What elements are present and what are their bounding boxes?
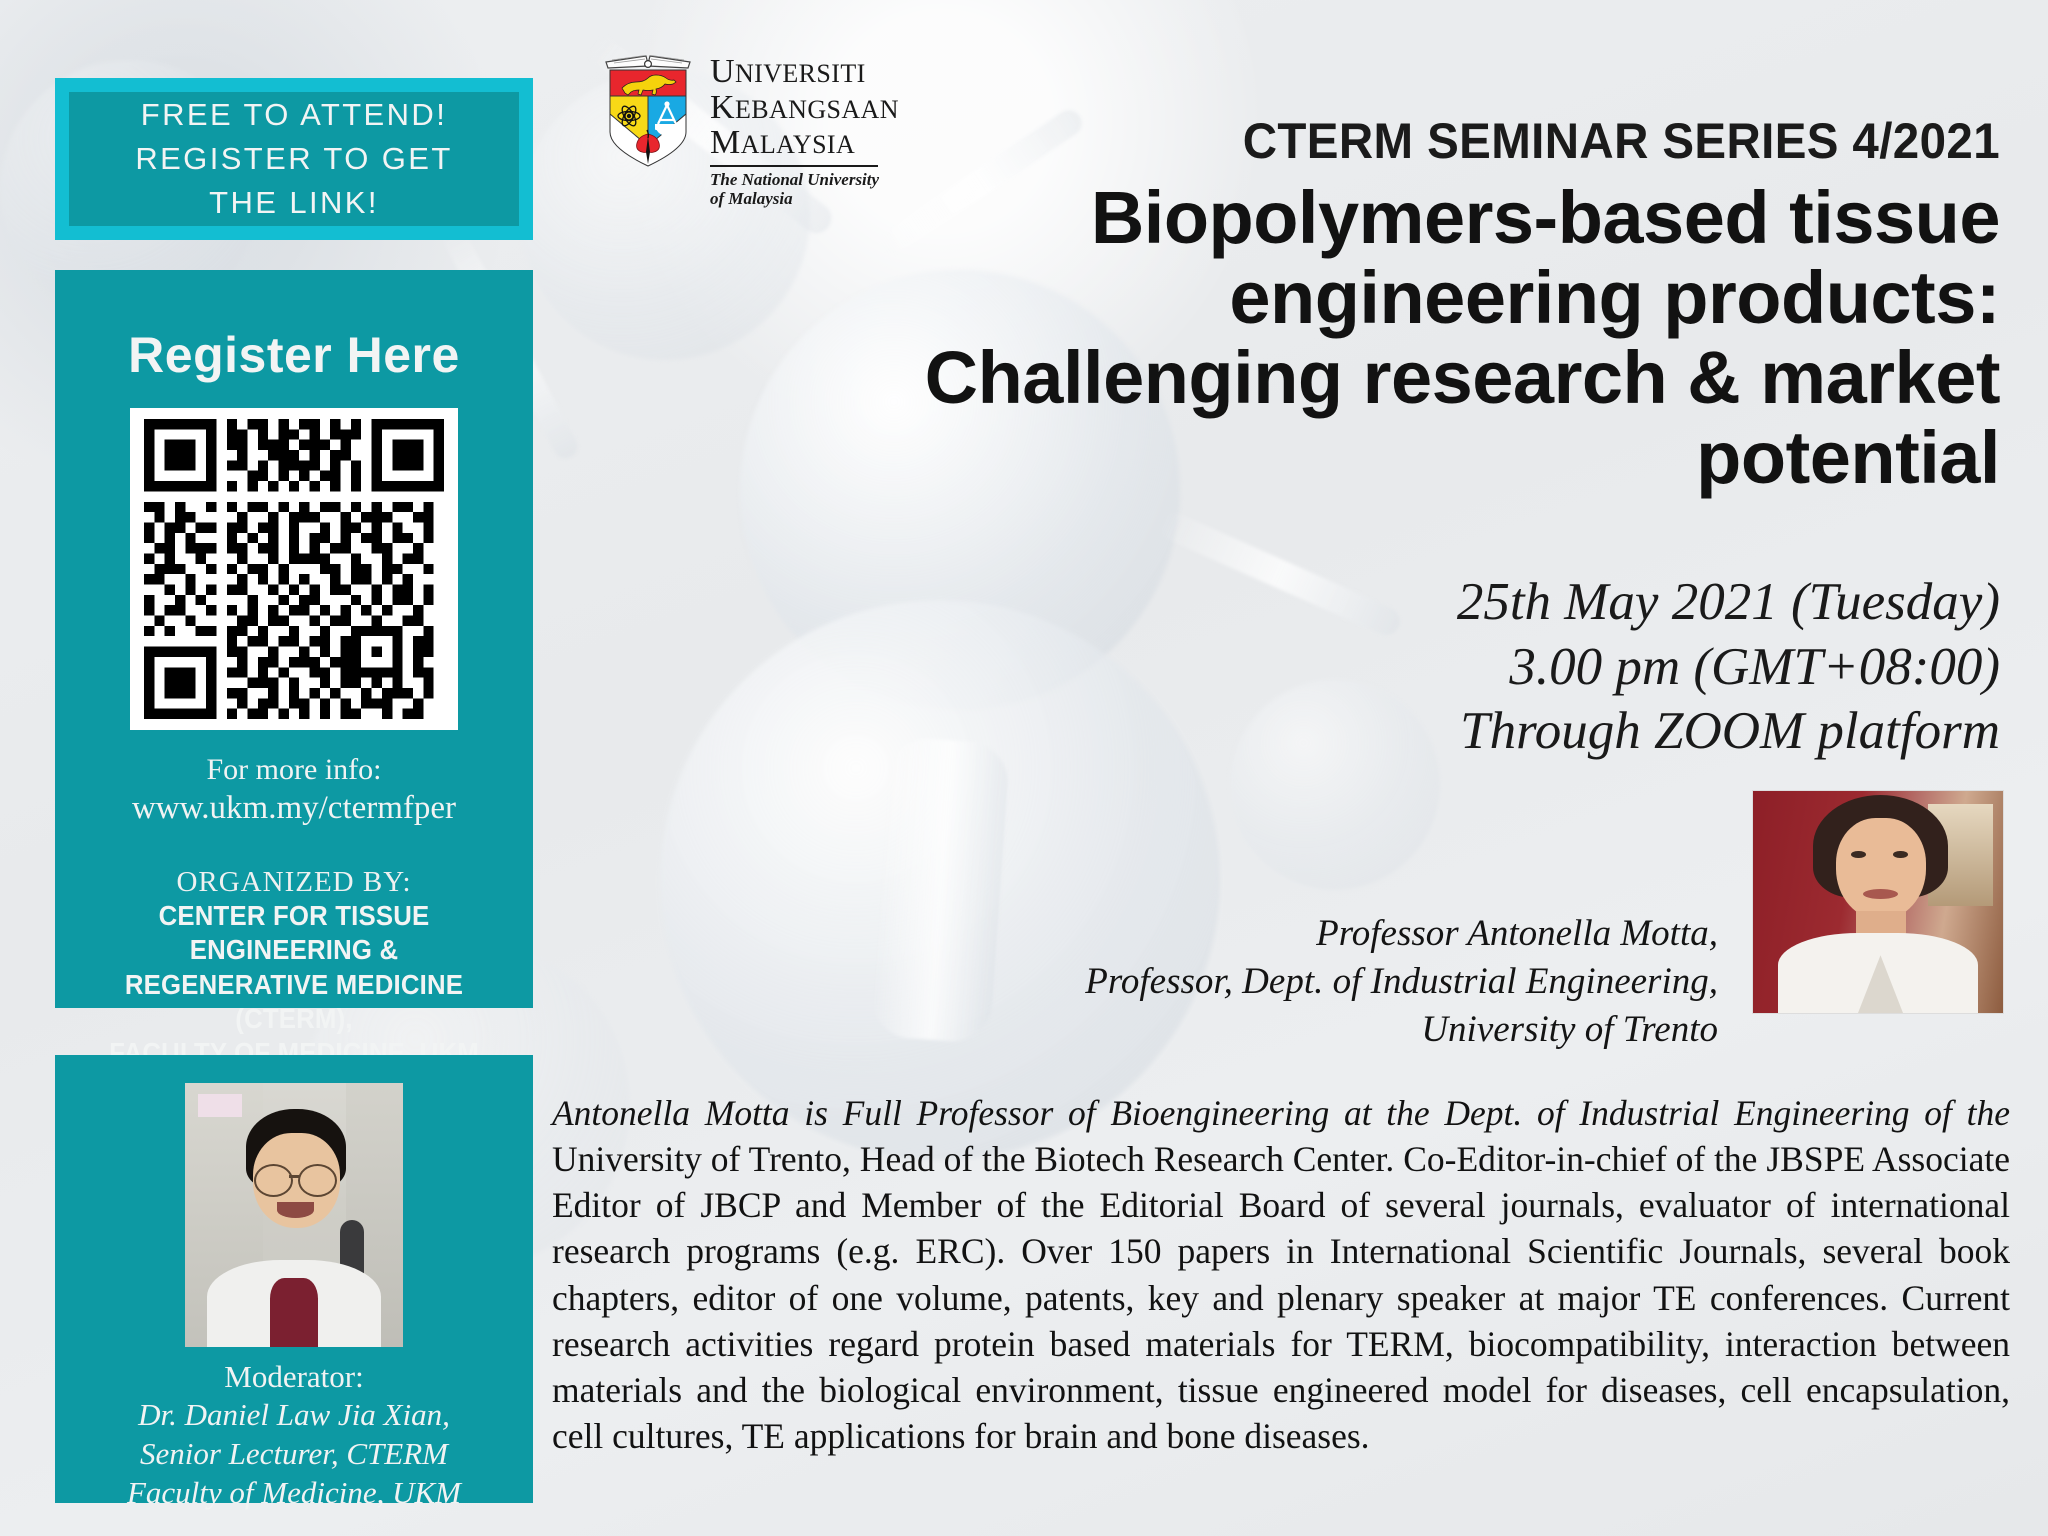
free-banner-line-2: REGISTER TO GET (135, 138, 452, 180)
moderator-portrait (185, 1083, 403, 1347)
page-title: Biopolymers-based tissue engineering pro… (820, 178, 2000, 498)
event-time: 3.00 pm (GMT+08:00) (1000, 635, 2000, 700)
ukm-crest-icon (600, 48, 696, 172)
more-info-label: For more info: (75, 752, 513, 789)
event-details: 25th May 2021 (Tuesday) 3.00 pm (GMT+08:… (1000, 570, 2000, 764)
qr-code-container[interactable] (130, 408, 458, 730)
speaker-name-line-1: Professor Antonella Motta, (898, 910, 1718, 958)
bio-lead: Antonella Motta is Full Professor of Bio… (552, 1093, 2010, 1133)
organizer-line-1: CENTER FOR TISSUE ENGINEERING & (93, 899, 496, 967)
free-to-attend-inner: FREE TO ATTEND! REGISTER TO GET THE LINK… (69, 92, 519, 226)
title-line-1: Biopolymers-based tissue (820, 178, 2000, 258)
moderator-name-line-1: Dr. Daniel Law Jia Xian, (69, 1395, 519, 1434)
seminar-poster: FREE TO ATTEND! REGISTER TO GET THE LINK… (0, 0, 2048, 1536)
speaker-name-line-3: University of Trento (898, 1006, 1718, 1054)
speaker-name-block: Professor Antonella Motta, Professor, De… (898, 910, 1718, 1054)
seminar-series-label: CTERM SEMINAR SERIES 4/2021 (898, 112, 2000, 170)
organizer-line-2: REGENERATIVE MEDICINE (CTERM), (93, 968, 496, 1036)
left-sidebar: FREE TO ATTEND! REGISTER TO GET THE LINK… (0, 0, 560, 1536)
university-line-1: UNIVERSITI (710, 54, 899, 90)
event-date: 25th May 2021 (Tuesday) (1000, 570, 2000, 635)
bio-rest: University of Trento, Head of the Biotec… (552, 1139, 2010, 1456)
info-url[interactable]: www.ukm.my/ctermfper (75, 789, 513, 829)
free-banner-line-3: THE LINK! (209, 182, 379, 224)
speaker-name-line-2: Professor, Dept. of Industrial Engineeri… (898, 958, 1718, 1006)
university-divider (710, 165, 878, 167)
register-here-title: Register Here (75, 326, 513, 384)
speaker-portrait (1752, 790, 2004, 1014)
free-to-attend-banner: FREE TO ATTEND! REGISTER TO GET THE LINK… (55, 78, 533, 240)
moderator-role-label: Moderator: (69, 1359, 519, 1395)
title-line-2: engineering products: (820, 258, 2000, 338)
organized-by-label: ORGANIZED BY: (75, 866, 513, 899)
free-banner-line-1: FREE TO ATTEND! (141, 94, 447, 136)
moderator-panel: Moderator: Dr. Daniel Law Jia Xian, Seni… (55, 1055, 533, 1503)
speaker-biography: Antonella Motta is Full Professor of Bio… (552, 1090, 2010, 1459)
event-platform: Through ZOOM platform (1000, 699, 2000, 764)
moderator-name-line-2: Senior Lecturer, CTERM (69, 1434, 519, 1473)
register-panel: Register Here (55, 270, 533, 1008)
title-line-3: Challenging research & market (820, 338, 2000, 418)
moderator-name-line-3: Faculty of Medicine, UKM (69, 1473, 519, 1512)
university-line-3: MALAYSIA (710, 125, 899, 161)
university-line-2: KEBANGSAAN (710, 90, 899, 126)
title-line-4: potential (820, 418, 2000, 498)
qr-code-icon[interactable] (144, 419, 444, 719)
